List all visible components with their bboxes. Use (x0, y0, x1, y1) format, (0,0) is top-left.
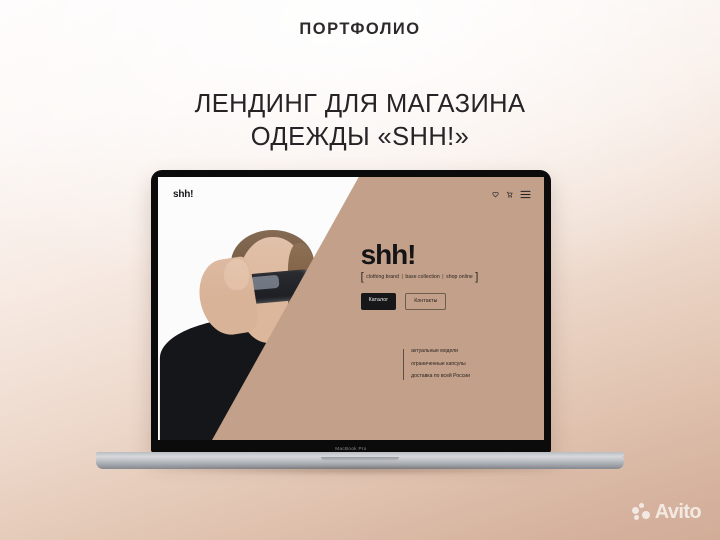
laptop-mockup: shh! shh! (96, 170, 624, 475)
site-logo[interactable]: shh! (173, 189, 193, 200)
tagline-item-2: base collection (405, 274, 439, 280)
laptop-shadow (104, 468, 616, 475)
page-title: ЛЕНДИНГ ДЛЯ МАГАЗИНА ОДЕЖДЫ «SHH!» (0, 88, 720, 154)
tagline-item-3: shop online (446, 274, 473, 280)
hero-tagline: [ clothing brand | base collection | sho… (361, 274, 539, 280)
tagline-separator-2: | (442, 274, 443, 280)
avito-logo-icon (632, 503, 651, 522)
feature-item: доставка по всей России (411, 374, 470, 379)
hero-buttons: Каталог Контакты (361, 293, 539, 310)
hamburger-menu-icon[interactable] (520, 190, 531, 199)
feature-list: актуальные модели ограниченные капсулы д… (403, 349, 470, 379)
laptop-base-notch (321, 457, 399, 461)
laptop-screen: shh! shh! (158, 177, 544, 440)
cart-icon[interactable] (506, 191, 513, 198)
hero-content: shh! [ clothing brand | base collection … (361, 241, 539, 310)
page-title-line-2: ОДЕЖДЫ «SHH!» (0, 121, 720, 154)
tagline-item-1: clothing brand (366, 274, 399, 280)
heart-icon[interactable] (492, 191, 499, 198)
laptop-lid: shh! shh! (151, 170, 551, 453)
avito-wordmark: Avito (655, 501, 701, 524)
catalog-button[interactable]: Каталог (361, 293, 397, 310)
title-block: ПОРТФОЛИО ЛЕНДИНГ ДЛЯ МАГАЗИНА ОДЕЖДЫ «S… (0, 0, 720, 154)
feature-item: актуальные модели (411, 349, 470, 354)
device-model-label: MacBook Pro (151, 446, 551, 451)
avito-watermark: Avito (632, 501, 701, 524)
site-header: shh! (158, 177, 544, 211)
site-header-icons (492, 190, 531, 199)
hero-wordmark: shh! (361, 241, 539, 269)
tagline-separator-1: | (401, 274, 402, 280)
page-title-line-1: ЛЕНДИНГ ДЛЯ МАГАЗИНА (195, 90, 526, 118)
feature-item: ограниченные капсулы (411, 362, 470, 367)
contacts-button[interactable]: Контакты (405, 293, 446, 310)
kicker-label: ПОРТФОЛИО (0, 20, 720, 39)
